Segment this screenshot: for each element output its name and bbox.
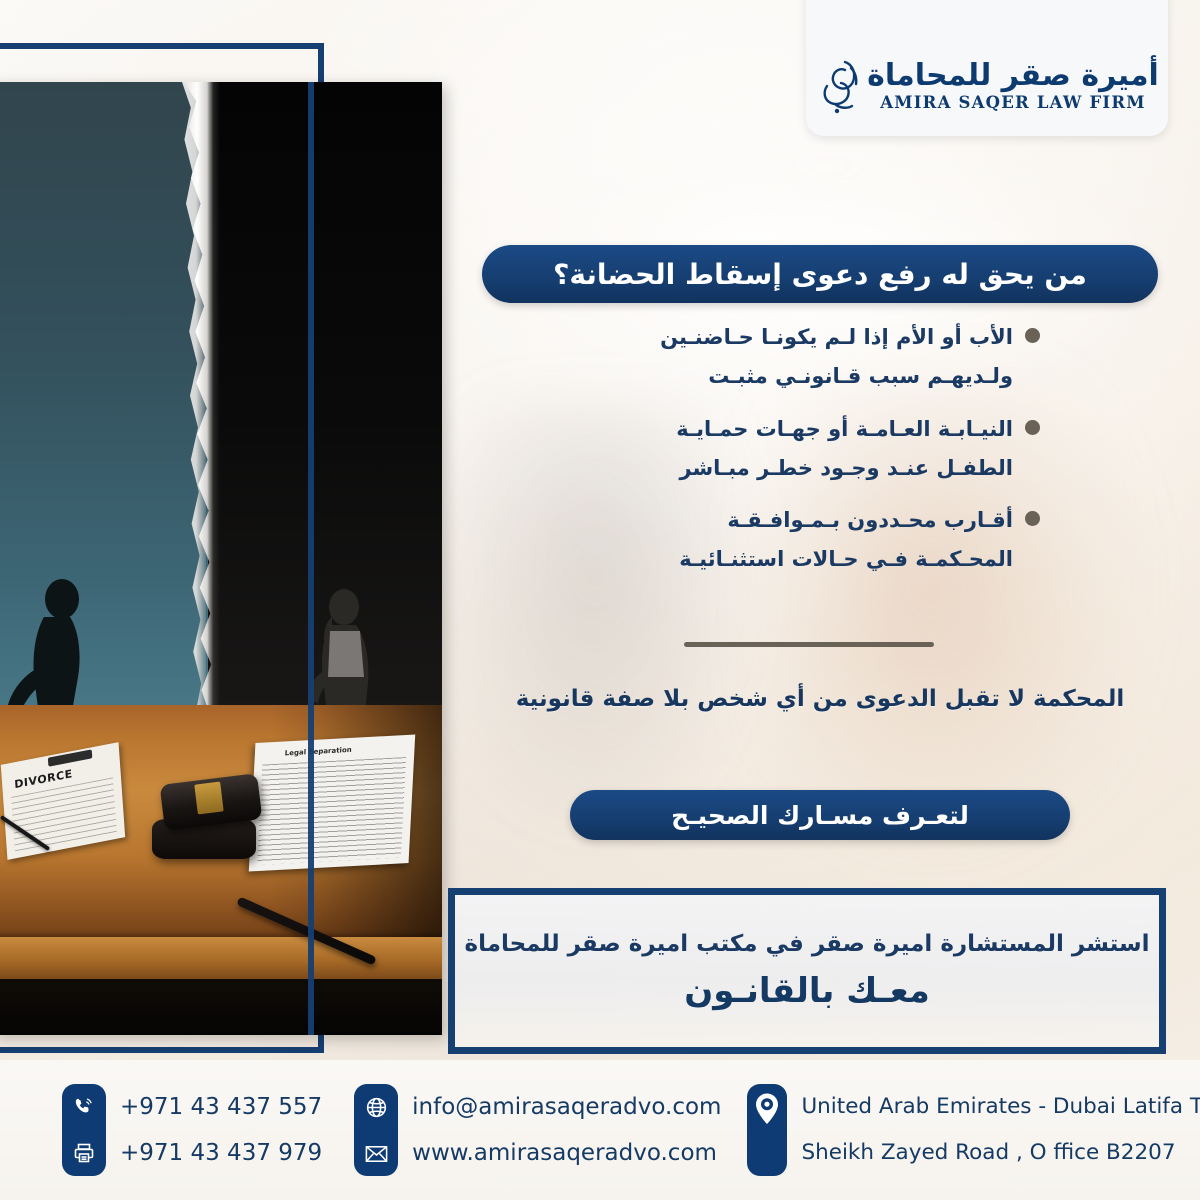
cta-label: لتعـرف مسـارك الصحيـح [671, 801, 969, 830]
globe-envelope-icon-stack [354, 1084, 398, 1176]
website-url[interactable]: www.amirasaqeradvo.com [412, 1142, 721, 1165]
address-line-1: United Arab Emirates - Dubai Latifa Towe… [801, 1096, 1200, 1118]
phone-number[interactable]: +971 43 437 557 [120, 1096, 322, 1119]
legal-papers: Legal Separation [249, 735, 415, 872]
bullet-line-2: المحـكمـة فـي حـالات استثنـائيـة [621, 540, 1013, 579]
bullet-line-1: النيـابـة العـامـة أو جهـات حمـايـة [621, 410, 1013, 449]
section-divider [684, 642, 934, 647]
footer-phone-group: +971 43 437 557 +971 43 437 979 [62, 1084, 322, 1176]
bullet-line-1: الأب أو الأم إذا لـم يكونـا حـاضنـين [621, 318, 1013, 357]
footer-web-group: info@amirasaqeradvo.com www.amirasaqerad… [354, 1084, 721, 1176]
footer-address-group: United Arab Emirates - Dubai Latifa Towe… [747, 1084, 1200, 1176]
address-line-2: Sheikh Zayed Road , O ffice B2207 [801, 1142, 1200, 1164]
globe-icon [364, 1095, 389, 1120]
bullet-text: أقـارب محـددون بـمـوافـقـة المحـكمـة فـي… [621, 501, 1013, 579]
bullet-dot-icon [1025, 420, 1040, 435]
legal-statement: المحكمة لا تقبل الدعوى من أي شخص بلا صفة… [440, 686, 1200, 712]
bullet-text: النيـابـة العـامـة أو جهـات حمـايـة الطف… [621, 410, 1013, 488]
bullet-line-1: أقـارب محـددون بـمـوافـقـة [621, 501, 1013, 540]
list-item: النيـابـة العـامـة أو جهـات حمـايـة الطف… [610, 410, 1040, 488]
headline-text: من يحق له رفع دعوى إسقاط الحضانة؟ [553, 258, 1087, 291]
list-item: أقـارب محـددون بـمـوافـقـة المحـكمـة فـي… [610, 501, 1040, 579]
bullet-dot-icon [1025, 511, 1040, 526]
bullet-list: الأب أو الأم إذا لـم يكونـا حـاضنـين ولـ… [610, 318, 1040, 593]
bullet-dot-icon [1025, 328, 1040, 343]
poster-canvas: Legal Separation DIVORCE أميرة صقر للمحا… [0, 0, 1200, 1200]
content-column: من يحق له رفع دعوى إسقاط الحضانة؟ الأب أ… [440, 0, 1200, 1060]
map-pin-icon-stack [747, 1084, 787, 1176]
bullet-line-2: ولـديهـم سبب قـانونـي مثبـت [621, 357, 1013, 396]
bullet-line-2: الطفـل عنـد وجـود خطـر مبـاشر [621, 449, 1013, 488]
phone-icon [72, 1095, 96, 1119]
footer-bar: +971 43 437 557 +971 43 437 979 [0, 1060, 1200, 1200]
hero-photo: Legal Separation DIVORCE [0, 82, 442, 1035]
bullet-text: الأب أو الأم إذا لـم يكونـا حـاضنـين ولـ… [621, 318, 1013, 396]
gavel-gold-band [194, 782, 223, 815]
email-address[interactable]: info@amirasaqeradvo.com [412, 1096, 721, 1119]
papers-title: Legal Separation [285, 746, 352, 758]
fax-icon [72, 1141, 96, 1165]
headline-banner: من يحق له رفع دعوى إسقاط الحضانة؟ [482, 245, 1158, 303]
papers-text-lines [257, 757, 406, 865]
envelope-icon [364, 1143, 389, 1165]
map-pin-icon [754, 1092, 780, 1126]
list-item: الأب أو الأم إذا لـم يكونـا حـاضنـين ولـ… [610, 318, 1040, 396]
phone-fax-icon-stack [62, 1084, 106, 1176]
fax-number[interactable]: +971 43 437 979 [120, 1142, 322, 1165]
cta-button[interactable]: لتعـرف مسـارك الصحيـح [570, 790, 1070, 840]
